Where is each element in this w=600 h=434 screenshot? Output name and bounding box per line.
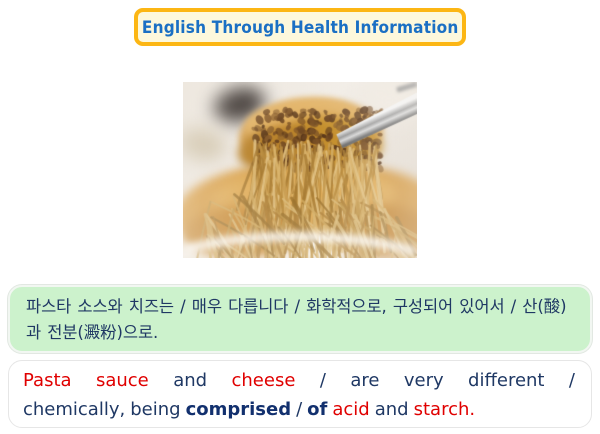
english-word: chemically, xyxy=(23,399,125,420)
english-word: / xyxy=(569,366,575,395)
english-word: sauce xyxy=(96,366,149,395)
english-word: of xyxy=(307,399,327,420)
english-word: very xyxy=(404,366,444,395)
title-banner: English Through Health Information xyxy=(134,8,466,46)
english-sentence-box: Pastasauceandcheese/areverydifferent/ ch… xyxy=(8,360,592,428)
english-word: comprised xyxy=(186,399,292,420)
english-word: acid xyxy=(332,399,369,420)
english-word: and xyxy=(173,366,207,395)
english-word: Pasta xyxy=(23,366,72,395)
english-word: / xyxy=(320,366,326,395)
english-sentence-line-2: chemically,beingcomprised/ofacidandstarc… xyxy=(23,395,579,424)
english-word: starch. xyxy=(414,399,476,420)
korean-translation-box: 파스타 소스와 치즈는 / 매우 다릅니다 / 화학적으로, 구성되어 있어서 … xyxy=(8,285,592,353)
pasta-photo-canvas xyxy=(183,82,417,258)
pasta-photo xyxy=(183,82,417,258)
korean-translation-text: 파스타 소스와 치즈는 / 매우 다릅니다 / 화학적으로, 구성되어 있어서 … xyxy=(26,294,576,346)
english-word: and xyxy=(375,399,409,420)
english-word: being xyxy=(130,399,180,420)
english-word: different xyxy=(468,366,544,395)
english-sentence-line-1: Pastasauceandcheese/areverydifferent/ xyxy=(23,366,579,395)
english-word: / xyxy=(296,399,302,420)
page-title: English Through Health Information xyxy=(142,18,459,37)
english-word: are xyxy=(350,366,379,395)
english-word: cheese xyxy=(231,366,295,395)
